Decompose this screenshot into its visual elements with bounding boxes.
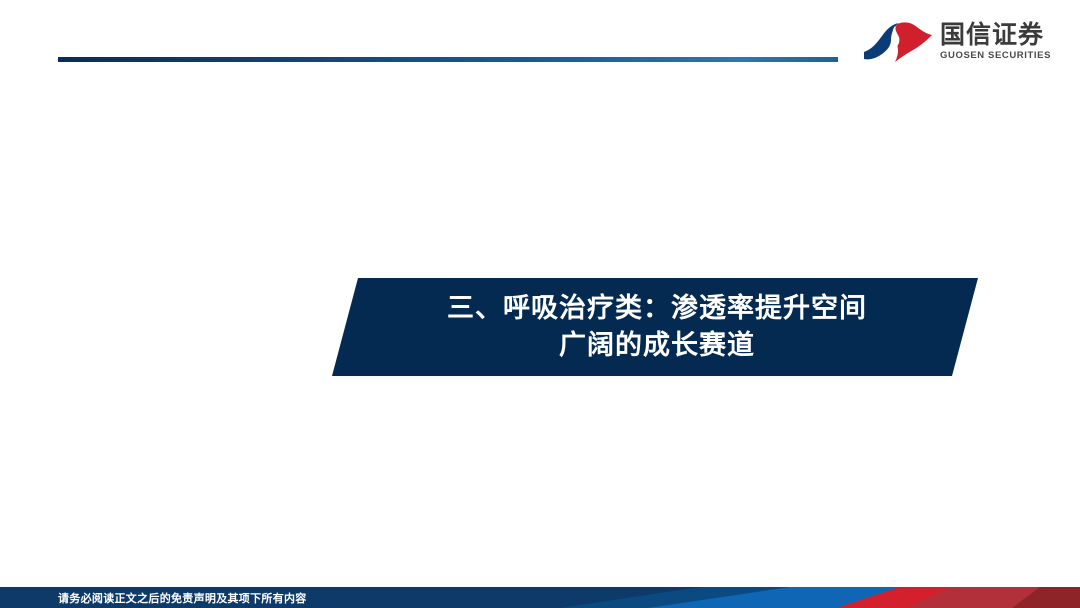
header-divider-rule [58, 57, 838, 62]
section-title-banner: 三、呼吸治疗类：渗透率提升空间 广阔的成长赛道 [330, 278, 978, 376]
section-title: 三、呼吸治疗类：渗透率提升空间 广阔的成长赛道 [330, 278, 978, 376]
brand-logo: 国信证券 GUOSEN SECURITIES [862, 16, 1034, 68]
guosen-logo-mark [862, 19, 934, 65]
footer-disclaimer: 请务必阅读正文之后的免责声明及其项下所有内容 [58, 587, 307, 608]
footer-bar: 请务必阅读正文之后的免责声明及其项下所有内容 [0, 587, 1080, 608]
brand-name-en: GUOSEN SECURITIES [940, 50, 1051, 61]
section-title-line-2: 广阔的成长赛道 [559, 327, 755, 364]
brand-name-cn: 国信证券 [940, 22, 1051, 48]
brand-wordmark: 国信证券 GUOSEN SECURITIES [940, 22, 1051, 63]
section-title-line-1: 三、呼吸治疗类：渗透率提升空间 [447, 290, 867, 327]
